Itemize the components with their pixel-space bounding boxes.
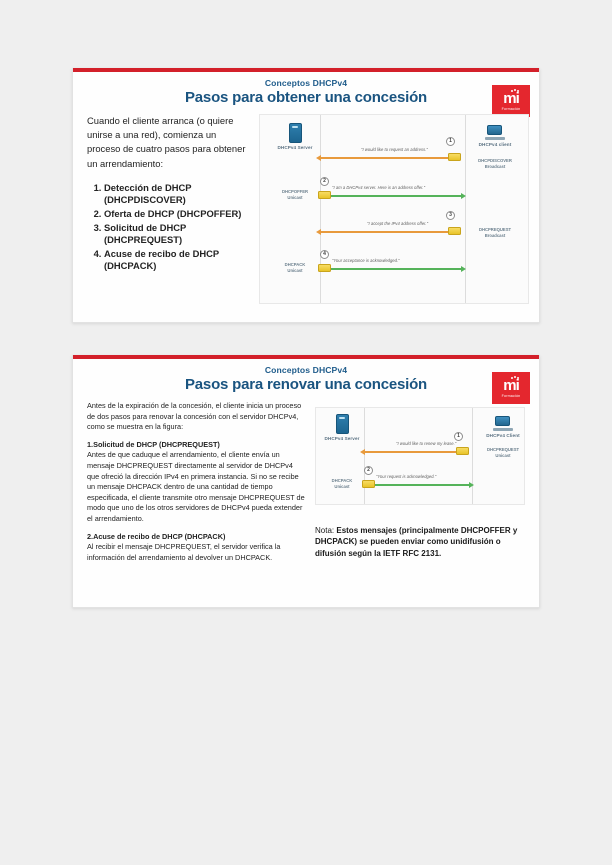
message-label-2: "Your request is acknowledged." — [376, 474, 436, 479]
logo-dots-icon — [511, 376, 520, 380]
slide2-section2-heading: 2.Acuse de recibo de DHCP (DHCPACK) — [87, 532, 307, 543]
dhcp-renew-sequence-diagram: DHCPv4 Server DHCPv4 Client DHCPREQUEST … — [315, 407, 525, 505]
logo-dots-icon — [511, 89, 520, 93]
brand-logo: mi Formación — [492, 372, 530, 404]
client-node: DHCPv4 Client — [466, 416, 540, 438]
slide2-section2-body: Al recibir el mensaje DHCPREQUEST, el se… — [87, 542, 307, 563]
server-icon — [336, 414, 349, 434]
note-body: Estos mensajes (principalmente DHCPOFFER… — [315, 526, 517, 558]
slide1-intro-paragraph: Cuando el cliente arranca (o quiere unir… — [87, 114, 252, 171]
step-badge-1: 1 — [446, 137, 455, 146]
slide2-intro-paragraph: Antes de la expiración de la concesión, … — [87, 401, 307, 433]
laptop-icon — [493, 416, 513, 431]
dhcp-lease-sequence-diagram: DHCPv4 Server DHCPv4 client DHCPDISCOVER… — [259, 114, 529, 304]
list-item: Solicitud de DHCP (DHCPREQUEST) — [104, 222, 252, 247]
server-node: DHCPv4 Server — [305, 414, 379, 441]
slide2-section1-heading: 1.Solicitud de DHCP (DHCPREQUEST) — [87, 440, 307, 451]
slide2-note: Nota: Estos mensajes (principalmente DHC… — [315, 525, 525, 559]
server-icon — [289, 123, 302, 143]
packet-icon-2 — [362, 480, 375, 488]
message-arrow-3 — [321, 231, 461, 233]
laptop-icon — [485, 125, 505, 140]
slide2-title: Pasos para renovar una concesión — [73, 376, 539, 393]
step-badge-4: 4 — [320, 250, 329, 259]
logo-subtitle: Formación — [502, 108, 521, 112]
slide2-eyebrow: Conceptos DHCPv4 — [73, 365, 539, 375]
step-badge-2: 2 — [364, 466, 373, 475]
message-arrow-2 — [366, 484, 469, 486]
brand-logo: mi Formación — [492, 85, 530, 117]
slide-card-renovar-concesion: Conceptos DHCPv4 Pasos para renovar una … — [72, 355, 540, 608]
client-node: DHCPv4 client — [458, 125, 532, 147]
message-arrow-2 — [322, 195, 461, 197]
packet-icon-3 — [448, 227, 461, 235]
packet-icon-1 — [456, 447, 469, 455]
slide2-section1-body: Antes de que caduque el arrendamiento, e… — [87, 450, 307, 524]
logo-mark: mi — [503, 378, 519, 393]
logo-subtitle: Formación — [502, 395, 521, 399]
step-badge-1: 1 — [454, 432, 463, 441]
slide1-body: Cuando el cliente arranca (o quiere unir… — [87, 114, 252, 274]
document-page: Conceptos DHCPv4 Pasos para obtener una … — [0, 0, 612, 865]
list-item: Oferta de DHCP (DHCPOFFER) — [104, 208, 252, 221]
client-tag-discover: DHCPDISCOVER Broadcast — [458, 158, 532, 169]
step-badge-2: 2 — [320, 177, 329, 186]
message-label-4: "Your acceptance is acknowledged." — [332, 258, 400, 263]
step-badge-3: 3 — [446, 211, 455, 220]
slide1-title: Pasos para obtener una concesión — [73, 89, 539, 106]
note-label: Nota: — [315, 526, 334, 535]
client-tag-request: DHCPREQUEST Broadcast — [458, 227, 532, 238]
logo-mark: mi — [503, 91, 519, 106]
server-label: DHCPv4 Server — [305, 436, 379, 441]
message-label-1: "I would like to renew my lease." — [396, 441, 456, 446]
list-item: Acuse de recibo de DHCP (DHCPACK) — [104, 248, 252, 273]
slide2-body: Antes de la expiración de la concesión, … — [87, 401, 307, 570]
server-label: DHCPv4 Server — [258, 145, 332, 150]
packet-icon-1 — [448, 153, 461, 161]
slide-card-obtener-concesion: Conceptos DHCPv4 Pasos para obtener una … — [72, 68, 540, 323]
packet-icon-4 — [318, 264, 331, 272]
message-arrow-1 — [321, 157, 461, 159]
message-arrow-1 — [365, 451, 469, 453]
client-tag-request: DHCPREQUEST Unicast — [466, 447, 540, 458]
message-label-3: "I accept the IPv4 address offer." — [367, 221, 428, 226]
client-label: DHCPv4 Client — [466, 433, 540, 438]
server-node: DHCPv4 Server — [258, 123, 332, 150]
slide1-steps-list: Detección de DHCP (DHCPDISCOVER) Oferta … — [87, 182, 252, 273]
message-label-1: "I would like to request an address." — [361, 147, 428, 152]
packet-icon-2 — [318, 191, 331, 199]
message-arrow-4 — [322, 268, 461, 270]
slide1-eyebrow: Conceptos DHCPv4 — [73, 78, 539, 88]
message-label-2: "I am a DHCPv4 server. Here is an addres… — [332, 185, 425, 190]
list-item: Detección de DHCP (DHCPDISCOVER) — [104, 182, 252, 207]
client-label: DHCPv4 client — [458, 142, 532, 147]
